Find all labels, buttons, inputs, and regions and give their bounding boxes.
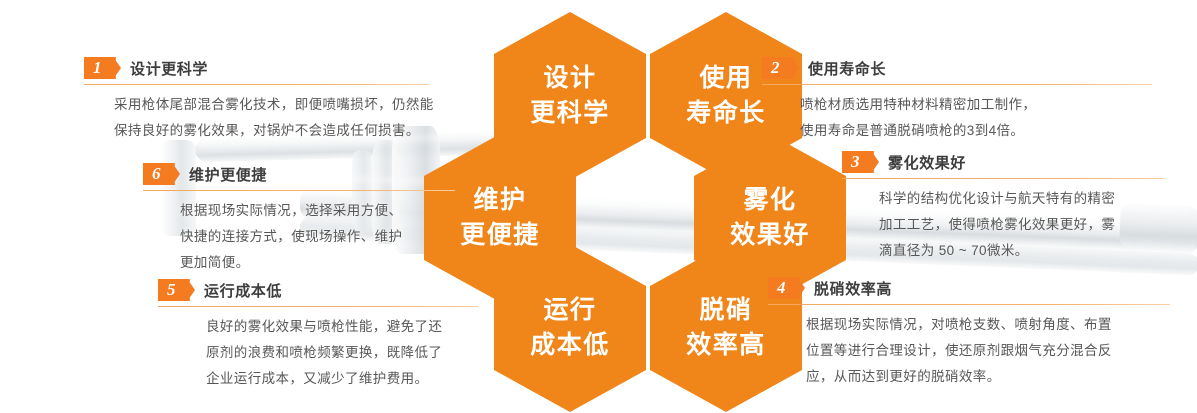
feature-line: 根据现场实际情况，选择采用方便、 xyxy=(180,198,473,224)
feature-description: 科学的结构优化设计与航天特有的精密 加工工艺，使得喷枪雾化效果更好，雾 滴直径为… xyxy=(842,186,1182,264)
feature-title: 雾化效果好 xyxy=(888,152,966,173)
feature-line: 原剂的浪费和喷枪频繁更换，既降低了 xyxy=(206,340,514,366)
feature-line: 使用寿命是普通脱硝喷枪的3到4倍。 xyxy=(800,118,1152,144)
feature-header: 4 脱硝效率高 xyxy=(768,276,1188,300)
hexagon-line-1: 设计 xyxy=(543,61,596,97)
feature-description: 喷枪材质选用特种材料精密加工制作， 使用寿命是普通脱硝喷枪的3到4倍。 xyxy=(762,92,1152,144)
feature-block-5: 5 运行成本低 良好的雾化效果与喷枪性能，避免了还 原剂的浪费和喷枪频繁更换，既… xyxy=(158,278,514,392)
feature-block-6: 6 维护更便捷 根据现场实际情况，选择采用方便、 快捷的连接方式，使现场操作、维… xyxy=(143,162,473,276)
feature-line: 位置等进行合理设计，使还原剂跟烟气充分混合反 xyxy=(806,338,1188,364)
hexagon-line-1: 雾化 xyxy=(743,183,796,219)
feature-header: 1 设计更科学 xyxy=(84,56,449,80)
feature-description: 良好的雾化效果与喷枪性能，避免了还 原剂的浪费和喷枪频繁更换，既降低了 企业运行… xyxy=(158,314,514,392)
feature-header: 5 运行成本低 xyxy=(158,278,514,302)
hexagon-line-1: 使用 xyxy=(699,61,752,97)
feature-line: 喷枪材质选用特种材料精密加工制作， xyxy=(800,92,1152,118)
feature-header: 3 雾化效果好 xyxy=(842,150,1182,174)
feature-title: 运行成本低 xyxy=(204,280,282,301)
feature-divider xyxy=(143,190,455,191)
feature-divider xyxy=(842,178,1164,179)
hexagon-line-2: 效率高 xyxy=(686,328,766,364)
hexagon-line-1: 脱硝 xyxy=(699,293,752,329)
feature-line: 根据现场实际情况，对喷枪支数、喷射角度、布置 xyxy=(806,312,1188,338)
feature-line: 快捷的连接方式，使现场操作、维护 xyxy=(180,224,473,250)
number-badge-icon: 3 xyxy=(842,151,879,173)
feature-divider xyxy=(158,306,478,307)
number-badge-icon: 1 xyxy=(84,57,121,79)
feature-line: 良好的雾化效果与喷枪性能，避免了还 xyxy=(206,314,514,340)
feature-block-3: 3 雾化效果好 科学的结构优化设计与航天特有的精密 加工工艺，使得喷枪雾化效果更… xyxy=(842,150,1182,264)
feature-description: 采用枪体尾部混合雾化技术，即便喷嘴损坏，仍然能 保持良好的雾化效果，对锅炉不会造… xyxy=(84,92,449,144)
feature-divider xyxy=(768,304,1170,305)
feature-header: 2 使用寿命长 xyxy=(762,56,1152,80)
feature-divider xyxy=(762,84,1152,85)
infographic-canvas: 设计 更科学 使用 寿命长 维护 更便捷 雾化 效果好 运行 成本低 脱硝 效率… xyxy=(0,0,1197,413)
hexagon-line-2: 更科学 xyxy=(530,96,610,132)
feature-title: 使用寿命长 xyxy=(808,58,886,79)
hexagon-line-1: 维护 xyxy=(473,183,526,219)
feature-title: 设计更科学 xyxy=(130,58,208,79)
hexagon-line-2: 成本低 xyxy=(530,328,610,364)
feature-divider xyxy=(84,84,429,85)
feature-title: 脱硝效率高 xyxy=(814,278,892,299)
feature-block-2: 2 使用寿命长 喷枪材质选用特种材料精密加工制作， 使用寿命是普通脱硝喷枪的3到… xyxy=(762,56,1152,144)
feature-line: 保持良好的雾化效果，对锅炉不会造成任何损害。 xyxy=(114,118,449,144)
feature-line: 采用枪体尾部混合雾化技术，即便喷嘴损坏，仍然能 xyxy=(114,92,449,118)
number-badge-icon: 5 xyxy=(158,279,195,301)
hexagon-line-2: 寿命长 xyxy=(686,96,766,132)
feature-title: 维护更便捷 xyxy=(189,164,267,185)
number-badge-icon: 4 xyxy=(768,277,805,299)
feature-description: 根据现场实际情况，选择采用方便、 快捷的连接方式，使现场操作、维护 更加简便。 xyxy=(143,198,473,276)
number-badge-icon: 2 xyxy=(762,57,799,79)
hexagon-line-1: 运行 xyxy=(543,293,596,329)
feature-block-1: 1 设计更科学 采用枪体尾部混合雾化技术，即便喷嘴损坏，仍然能 保持良好的雾化效… xyxy=(84,56,449,144)
feature-line: 滴直径为 50 ~ 70微米。 xyxy=(879,238,1182,264)
feature-line: 科学的结构优化设计与航天特有的精密 xyxy=(879,186,1182,212)
feature-header: 6 维护更便捷 xyxy=(143,162,473,186)
number-badge-icon: 6 xyxy=(143,163,180,185)
feature-block-4: 4 脱硝效率高 根据现场实际情况，对喷枪支数、喷射角度、布置 位置等进行合理设计… xyxy=(768,276,1188,390)
feature-line: 更加简便。 xyxy=(180,250,473,276)
feature-line: 企业运行成本，又减少了维护费用。 xyxy=(206,366,514,392)
hexagon-line-2: 效果好 xyxy=(730,218,810,254)
feature-line: 加工工艺，使得喷枪雾化效果更好，雾 xyxy=(879,212,1182,238)
feature-line: 应，从而达到更好的脱硝效率。 xyxy=(806,364,1188,390)
feature-description: 根据现场实际情况，对喷枪支数、喷射角度、布置 位置等进行合理设计，使还原剂跟烟气… xyxy=(768,312,1188,390)
